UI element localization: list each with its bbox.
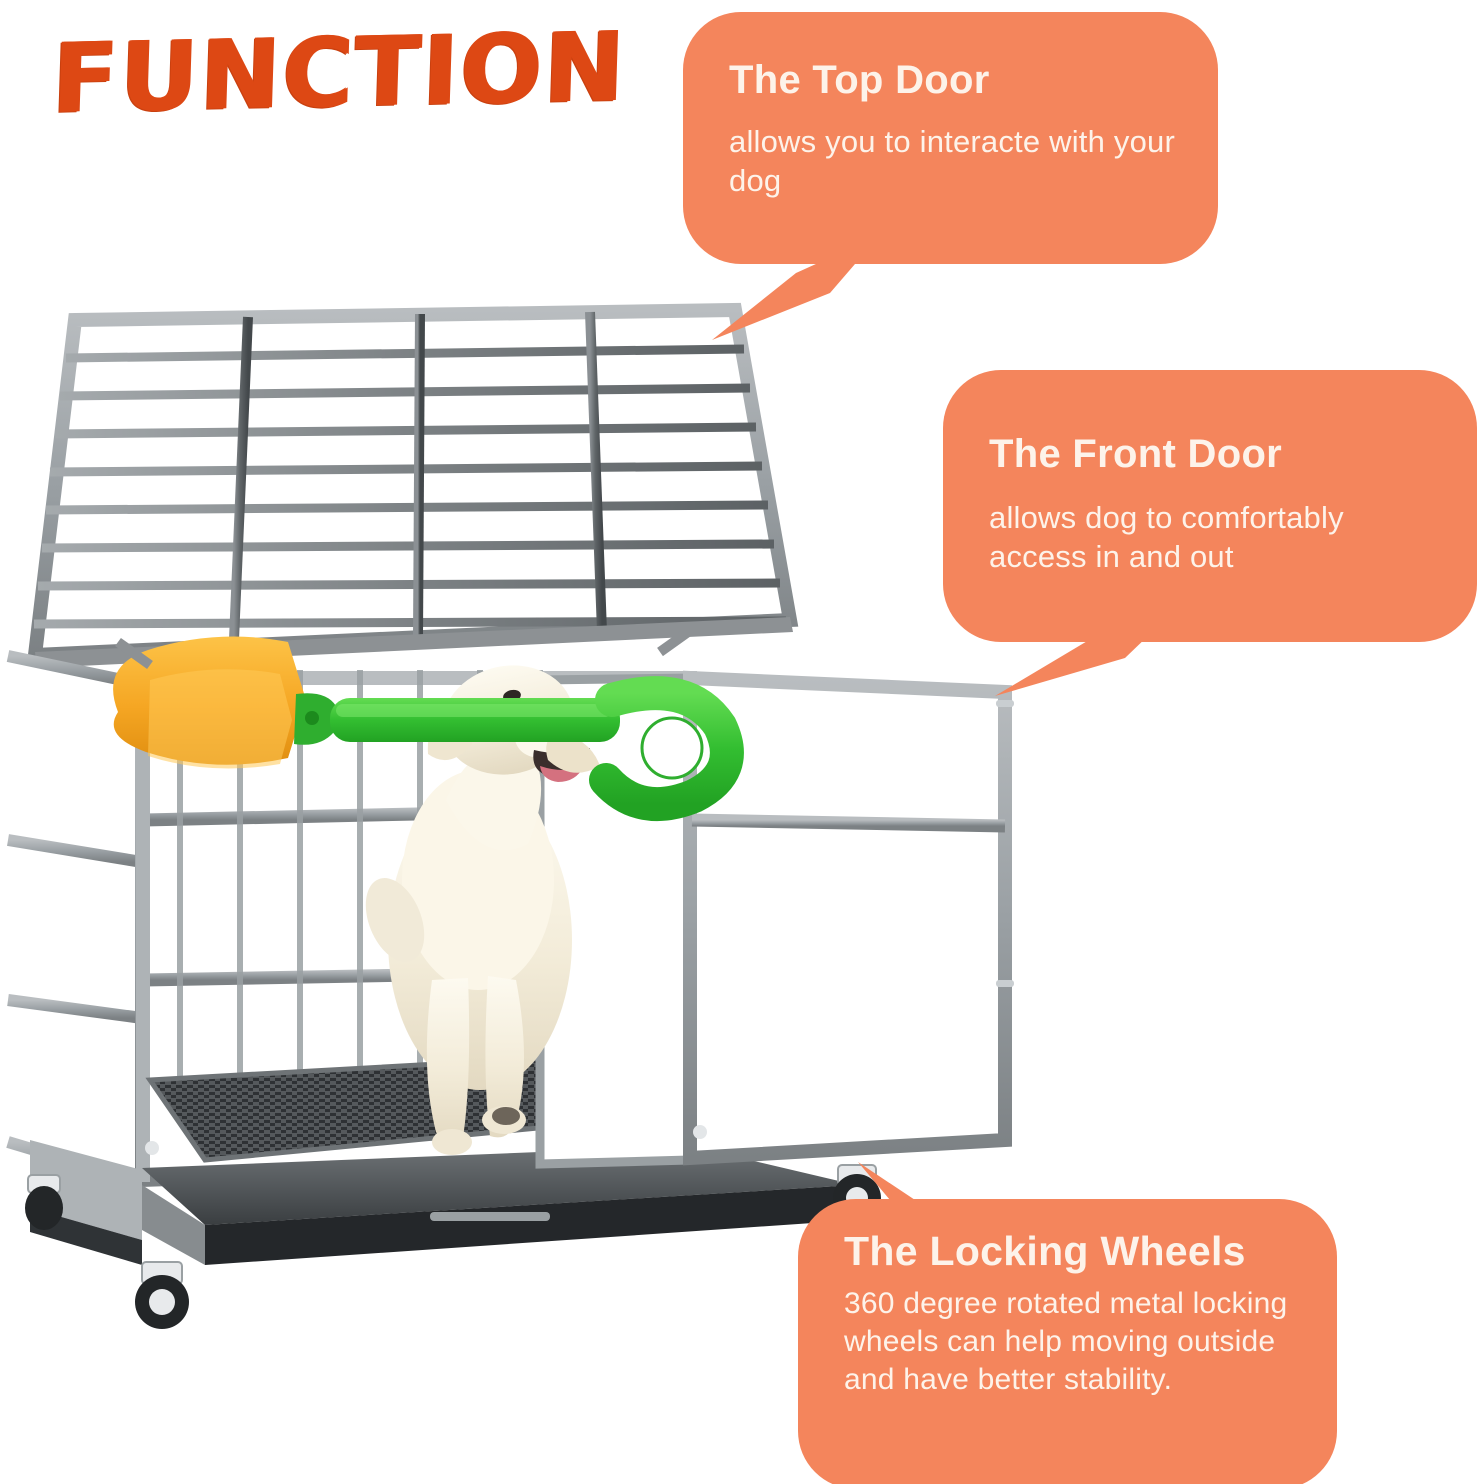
callout-front-door-title: The Front Door <box>989 432 1437 477</box>
callout-locking-wheels-title: The Locking Wheels <box>844 1229 1297 1275</box>
callout-locking-wheels: The Locking Wheels 360 degree rotated me… <box>798 1199 1337 1484</box>
callout-front-door-body: allows dog to comfortably access in and … <box>989 499 1437 577</box>
caster-wheel-rear-left <box>25 1175 63 1230</box>
product-image <box>0 280 1040 1340</box>
callout-top-door-title: The Top Door <box>729 58 1178 103</box>
callout-top-door-body: allows you to interacte with your dog <box>729 123 1178 201</box>
callout-front-door: The Front Door allows dog to comfortably… <box>943 370 1477 642</box>
callout-locking-wheels-body: 360 degree rotated metal locking wheels … <box>844 1285 1297 1398</box>
callout-top-door: The Top Door allows you to interacte wit… <box>683 12 1218 264</box>
page-title: FUNCTION <box>50 12 614 134</box>
top-door-panel <box>34 310 793 668</box>
front-door-panel <box>540 678 1014 1164</box>
infographic-page: FUNCTION <box>0 0 1484 1484</box>
caster-wheel-front-left <box>135 1262 189 1329</box>
